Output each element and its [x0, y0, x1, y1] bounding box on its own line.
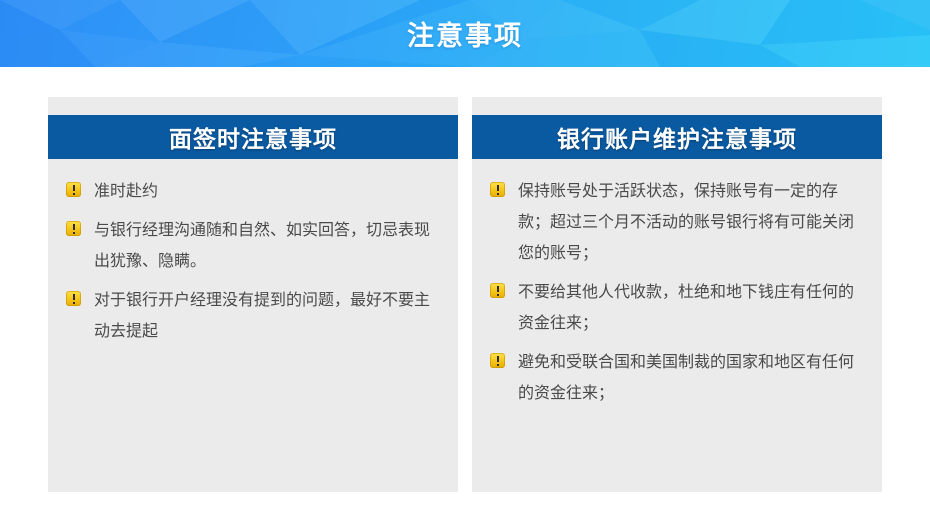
card-body-interview-notes: 准时赴约 与银行经理沟通随和自然、如实回答，切忌表现出犹豫、隐瞒。 对于银行开户… — [48, 159, 458, 346]
card-interview-notes: 面签时注意事项 准时赴约 与银行经理沟通随和自然、如实回答，切忌表现出犹豫、隐瞒… — [48, 97, 458, 492]
page-banner: 注意事项 — [0, 0, 930, 67]
list-item: 与银行经理沟通随和自然、如实回答，切忌表现出犹豫、隐瞒。 — [62, 214, 440, 276]
list-item-text: 与银行经理沟通随和自然、如实回答，切忌表现出犹豫、隐瞒。 — [94, 214, 440, 276]
list-item: 保持账号处于活跃状态，保持账号有一定的存款；超过三个月不活动的账号银行将有可能关… — [486, 175, 864, 268]
page-title: 注意事项 — [0, 0, 930, 67]
list-item: 准时赴约 — [62, 175, 440, 206]
card-header-bank-account-maintenance-notes: 银行账户维护注意事项 — [472, 115, 882, 159]
warning-exclamation-icon — [490, 283, 505, 298]
warning-exclamation-icon — [66, 182, 81, 197]
card-bank-account-maintenance-notes: 银行账户维护注意事项 保持账号处于活跃状态，保持账号有一定的存款；超过三个月不活… — [472, 97, 882, 492]
warning-exclamation-icon — [490, 353, 505, 368]
warning-exclamation-icon — [66, 221, 81, 236]
warning-exclamation-icon — [490, 182, 505, 197]
cards-container: 面签时注意事项 准时赴约 与银行经理沟通随和自然、如实回答，切忌表现出犹豫、隐瞒… — [0, 67, 930, 524]
warning-exclamation-icon — [66, 291, 81, 306]
card-header-interview-notes: 面签时注意事项 — [48, 115, 458, 159]
list-item-text: 保持账号处于活跃状态，保持账号有一定的存款；超过三个月不活动的账号银行将有可能关… — [518, 175, 864, 268]
list-item: 不要给其他人代收款，杜绝和地下钱庄有任何的资金往来； — [486, 276, 864, 338]
card-body-bank-account-maintenance-notes: 保持账号处于活跃状态，保持账号有一定的存款；超过三个月不活动的账号银行将有可能关… — [472, 159, 882, 408]
list-item: 避免和受联合国和美国制裁的国家和地区有任何的资金往来； — [486, 346, 864, 408]
list-item-text: 避免和受联合国和美国制裁的国家和地区有任何的资金往来； — [518, 346, 864, 408]
list-item: 对于银行开户经理没有提到的问题，最好不要主动去提起 — [62, 284, 440, 346]
list-item-text: 准时赴约 — [94, 175, 440, 206]
list-item-text: 不要给其他人代收款，杜绝和地下钱庄有任何的资金往来； — [518, 276, 864, 338]
list-item-text: 对于银行开户经理没有提到的问题，最好不要主动去提起 — [94, 284, 440, 346]
